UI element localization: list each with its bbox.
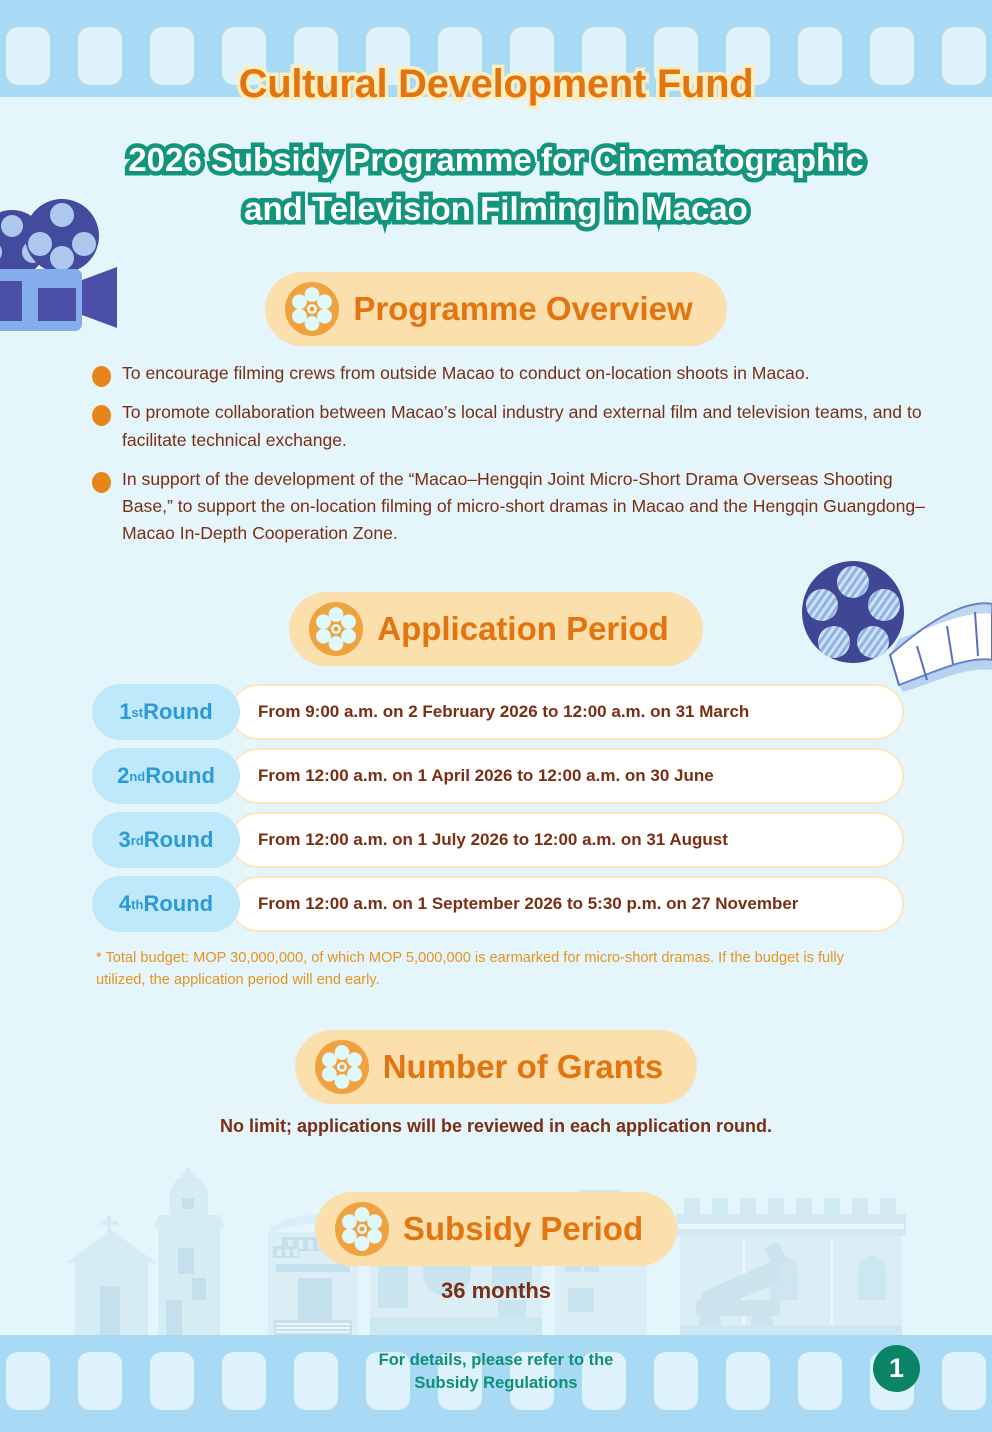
programme-title-line1: 2026 Subsidy Programme for Cinematograph…	[0, 136, 992, 185]
round-label: 1st Round	[92, 684, 240, 740]
round-date: From 12:00 a.m. on 1 September 2026 to 5…	[258, 894, 798, 914]
list-item: To encourage filming crews from outside …	[92, 360, 932, 387]
round-date: From 12:00 a.m. on 1 July 2026 to 12:00 …	[258, 830, 728, 850]
programme-title: 2026 Subsidy Programme for Cinematograph…	[0, 136, 992, 234]
round-label: 3rd Round	[92, 812, 240, 868]
round-ordinal: 4	[119, 891, 131, 917]
film-reel-icon	[315, 1040, 369, 1094]
footer-note-line1: For details, please refer to the	[0, 1349, 992, 1372]
section-heading-label: Application Period	[377, 610, 669, 648]
section-heading-application-period: Application Period	[0, 592, 992, 666]
round-ordinal: 2	[117, 763, 129, 789]
table-row: From 12:00 a.m. on 1 April 2026 to 12:00…	[92, 748, 904, 804]
section-heading-label: Number of Grants	[383, 1048, 664, 1086]
round-suffix: rd	[131, 833, 144, 848]
poster-page: Cultural Development Fund 2026 Subsidy P…	[0, 0, 992, 1432]
film-reel-icon	[335, 1202, 389, 1256]
section-heading-overview: Programme Overview	[0, 272, 992, 346]
round-suffix: th	[131, 897, 143, 912]
footer-note: For details, please refer to the Subsidy…	[0, 1349, 992, 1396]
round-word: Round	[143, 891, 213, 917]
round-word: Round	[143, 699, 213, 725]
list-item: To promote collaboration between Macao’s…	[92, 399, 932, 454]
subsidy-period-body: 36 months	[0, 1278, 992, 1304]
table-row: From 12:00 a.m. on 1 July 2026 to 12:00 …	[92, 812, 904, 868]
section-heading-label: Programme Overview	[353, 290, 692, 328]
bullet-dot-icon	[92, 472, 111, 493]
list-item-text: To promote collaboration between Macao’s…	[122, 399, 932, 454]
fund-title: Cultural Development Fund	[0, 62, 992, 107]
programme-title-line2: and Television Filming in Macao	[0, 185, 992, 234]
round-label: 4th Round	[92, 876, 240, 932]
round-label: 2nd Round	[92, 748, 240, 804]
application-rounds-table: From 9:00 a.m. on 2 February 2026 to 12:…	[92, 684, 904, 940]
round-word: Round	[144, 827, 214, 853]
section-heading-subsidy-period: Subsidy Period	[0, 1192, 992, 1266]
round-date: From 12:00 a.m. on 1 April 2026 to 12:00…	[258, 766, 714, 786]
number-of-grants-body: No limit; applications will be reviewed …	[0, 1114, 992, 1140]
bullet-dot-icon	[92, 366, 111, 387]
list-item-text: To encourage filming crews from outside …	[122, 360, 810, 387]
round-ordinal: 1	[119, 699, 131, 725]
round-suffix: st	[132, 705, 144, 720]
table-row: From 12:00 a.m. on 1 September 2026 to 5…	[92, 876, 904, 932]
table-row: From 9:00 a.m. on 2 February 2026 to 12:…	[92, 684, 904, 740]
round-word: Round	[145, 763, 215, 789]
overview-bullet-list: To encourage filming crews from outside …	[92, 360, 932, 560]
section-heading-label: Subsidy Period	[403, 1210, 643, 1248]
page-number-badge: 1	[873, 1345, 920, 1392]
film-reel-icon	[285, 282, 339, 336]
round-date: From 9:00 a.m. on 2 February 2026 to 12:…	[258, 702, 749, 722]
round-ordinal: 3	[119, 827, 131, 853]
list-item: In support of the development of the “Ma…	[92, 466, 932, 548]
footer-note-line2[interactable]: Subsidy Regulations	[0, 1372, 992, 1395]
budget-footnote: * Total budget: MOP 30,000,000, of which…	[96, 948, 896, 992]
list-item-text: In support of the development of the “Ma…	[122, 466, 932, 548]
round-suffix: nd	[129, 769, 145, 784]
bullet-dot-icon	[92, 405, 111, 426]
film-reel-icon	[309, 602, 363, 656]
section-heading-number-of-grants: Number of Grants	[0, 1030, 992, 1104]
